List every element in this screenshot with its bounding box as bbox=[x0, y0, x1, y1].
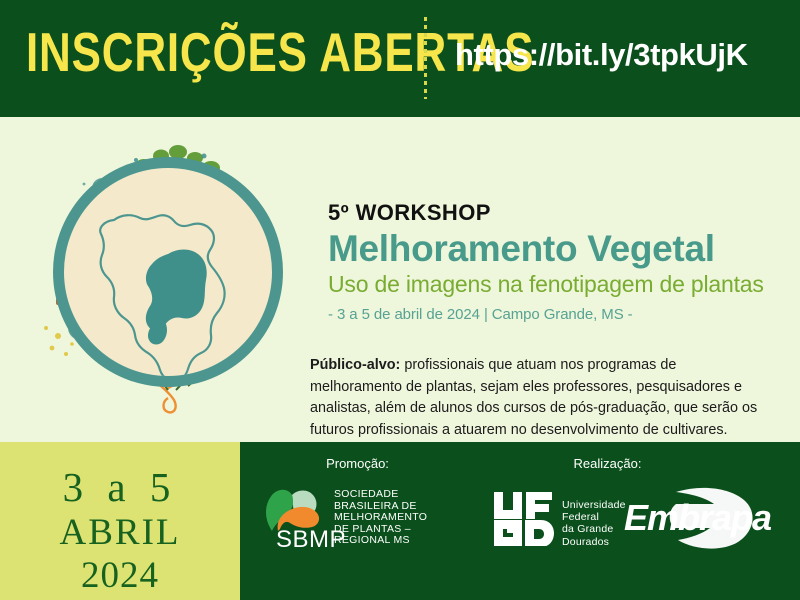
registration-url[interactable]: https://bit.ly/3tpkUjK bbox=[455, 38, 748, 72]
poster-root: INSCRIÇÕES ABERTAS https://bit.ly/3tpkUj… bbox=[0, 0, 800, 600]
promotion-label: Promoção: bbox=[250, 456, 465, 471]
date-line-1: 3 a 5 bbox=[0, 464, 240, 511]
ufgd-name-line: Dourados bbox=[562, 536, 626, 548]
ufgd-name-line: Universidade bbox=[562, 499, 626, 511]
event-dateline: - 3 a 5 de abril de 2024 | Campo Grande,… bbox=[328, 305, 778, 324]
ufgd-name-line: da Grande bbox=[562, 523, 626, 535]
brazil-globe-foliage-illustration bbox=[18, 122, 318, 422]
ufgd-name: Universidade Federal da Grande Dourados bbox=[562, 499, 626, 548]
ufgd-monogram-icon bbox=[492, 490, 554, 546]
ufgd-name-line: Federal bbox=[562, 511, 626, 523]
dotted-vertical-divider-icon bbox=[424, 17, 427, 99]
audience-paragraph: Público-alvo: profissionais que atuam no… bbox=[310, 355, 772, 441]
event-title: Melhoramento Vegetal bbox=[328, 228, 778, 270]
date-line-3: 2024 bbox=[0, 554, 240, 597]
event-subtitle: Uso de imagens na fenotipagem de plantas bbox=[328, 271, 778, 298]
header-banner: INSCRIÇÕES ABERTAS https://bit.ly/3tpkUj… bbox=[0, 0, 800, 117]
embrapa-wordmark: Embrapa bbox=[624, 497, 771, 538]
date-block: 3 a 5 ABRIL 2024 bbox=[0, 442, 240, 600]
sbmp-name-line: SOCIEDADE bbox=[334, 489, 427, 501]
audience-label: Público-alvo: bbox=[310, 357, 400, 373]
event-eyebrow: 5º WORKSHOP bbox=[328, 200, 778, 226]
date-line-2: ABRIL bbox=[0, 511, 240, 554]
sbmp-name-line: REGIONAL MS bbox=[334, 535, 427, 547]
embrapa-logo[interactable]: Embrapa bbox=[618, 486, 786, 552]
realization-label: Realização: bbox=[500, 456, 715, 471]
event-title-block: 5º WORKSHOP Melhoramento Vegetal Uso de … bbox=[328, 200, 778, 324]
sbmp-logo[interactable]: SBMP SOCIEDADE BRASILEIRA DE MELHORAMENT… bbox=[262, 487, 427, 553]
sbmp-name: SOCIEDADE BRASILEIRA DE MELHORAMENTO DE … bbox=[334, 489, 427, 547]
